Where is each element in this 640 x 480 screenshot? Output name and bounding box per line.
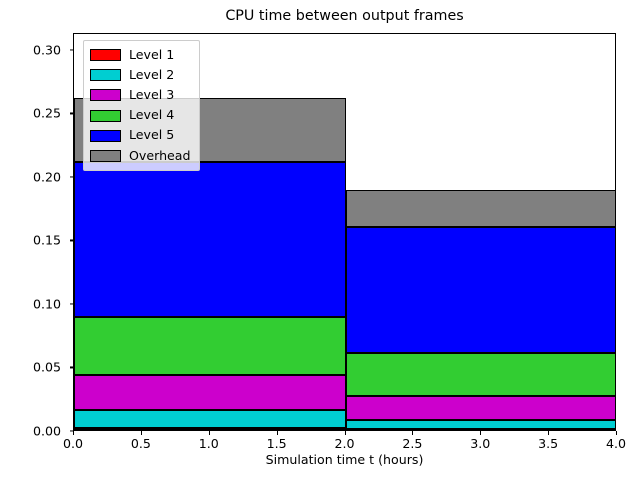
legend-item[interactable]: Level 3 (90, 86, 191, 104)
legend-swatch-icon (90, 69, 121, 81)
x-tick-label: 0.5 (131, 436, 151, 451)
legend-item[interactable]: Overhead (90, 147, 191, 165)
y-tick-label: 0.00 (0, 424, 61, 439)
bar-segment-level-3[interactable] (74, 375, 346, 409)
legend-label: Level 5 (129, 129, 174, 142)
y-tick-label: 0.10 (0, 296, 61, 311)
y-tick-label: 0.30 (0, 42, 61, 57)
legend-swatch-icon (90, 49, 121, 61)
x-axis-label: Simulation time t (hours) (73, 452, 616, 467)
x-tick-mark (209, 431, 210, 435)
bar-segment-level-5[interactable] (74, 162, 346, 317)
legend-label: Level 2 (129, 69, 174, 82)
x-tick-mark (277, 431, 278, 435)
bar-segment-overhead[interactable] (346, 190, 617, 227)
y-tick-label: 0.25 (0, 106, 61, 121)
bar-segment-level-1[interactable] (74, 428, 346, 430)
legend-label: Level 1 (129, 49, 174, 62)
bar-segment-level-2[interactable] (74, 410, 346, 428)
legend-item[interactable]: Level 5 (90, 127, 191, 145)
legend-label: Level 3 (129, 89, 174, 102)
chart-legend: Level 1Level 2Level 3Level 4Level 5Overh… (83, 40, 200, 171)
y-tick-label: 0.20 (0, 169, 61, 184)
y-tick-label: 0.15 (0, 233, 61, 248)
legend-swatch-icon (90, 89, 121, 101)
y-tick-label: 0.05 (0, 360, 61, 375)
x-tick-label: 2.5 (402, 436, 422, 451)
bar-stack[interactable] (346, 34, 617, 430)
x-tick-mark (480, 431, 481, 435)
legend-item[interactable]: Level 2 (90, 66, 191, 84)
legend-item[interactable]: Level 4 (90, 107, 191, 125)
chart-title: CPU time between output frames (73, 8, 616, 24)
x-tick-label: 0.0 (63, 436, 83, 451)
x-tick-label: 2.0 (334, 436, 354, 451)
chart-figure: CPU time between output frames CPU time … (0, 0, 640, 480)
legend-item[interactable]: Level 1 (90, 46, 191, 64)
x-tick-label: 3.0 (470, 436, 490, 451)
legend-label: Overhead (129, 150, 191, 163)
x-tick-mark (73, 431, 74, 435)
bar-segment-level-2[interactable] (346, 420, 617, 428)
x-tick-mark (616, 431, 617, 435)
bar-segment-level-4[interactable] (74, 317, 346, 375)
x-tick-mark (141, 431, 142, 435)
bar-segment-level-5[interactable] (346, 227, 617, 353)
x-tick-mark (345, 431, 346, 435)
x-tick-mark (548, 431, 549, 435)
legend-swatch-icon (90, 130, 121, 142)
x-tick-mark (412, 431, 413, 435)
x-tick-label: 4.0 (606, 436, 626, 451)
legend-swatch-icon (90, 150, 121, 162)
x-tick-label: 1.0 (199, 436, 219, 451)
x-tick-label: 3.5 (538, 436, 558, 451)
bar-segment-level-3[interactable] (346, 396, 617, 421)
bar-segment-level-4[interactable] (346, 353, 617, 396)
legend-swatch-icon (90, 110, 121, 122)
x-tick-label: 1.5 (267, 436, 287, 451)
legend-label: Level 4 (129, 109, 174, 122)
